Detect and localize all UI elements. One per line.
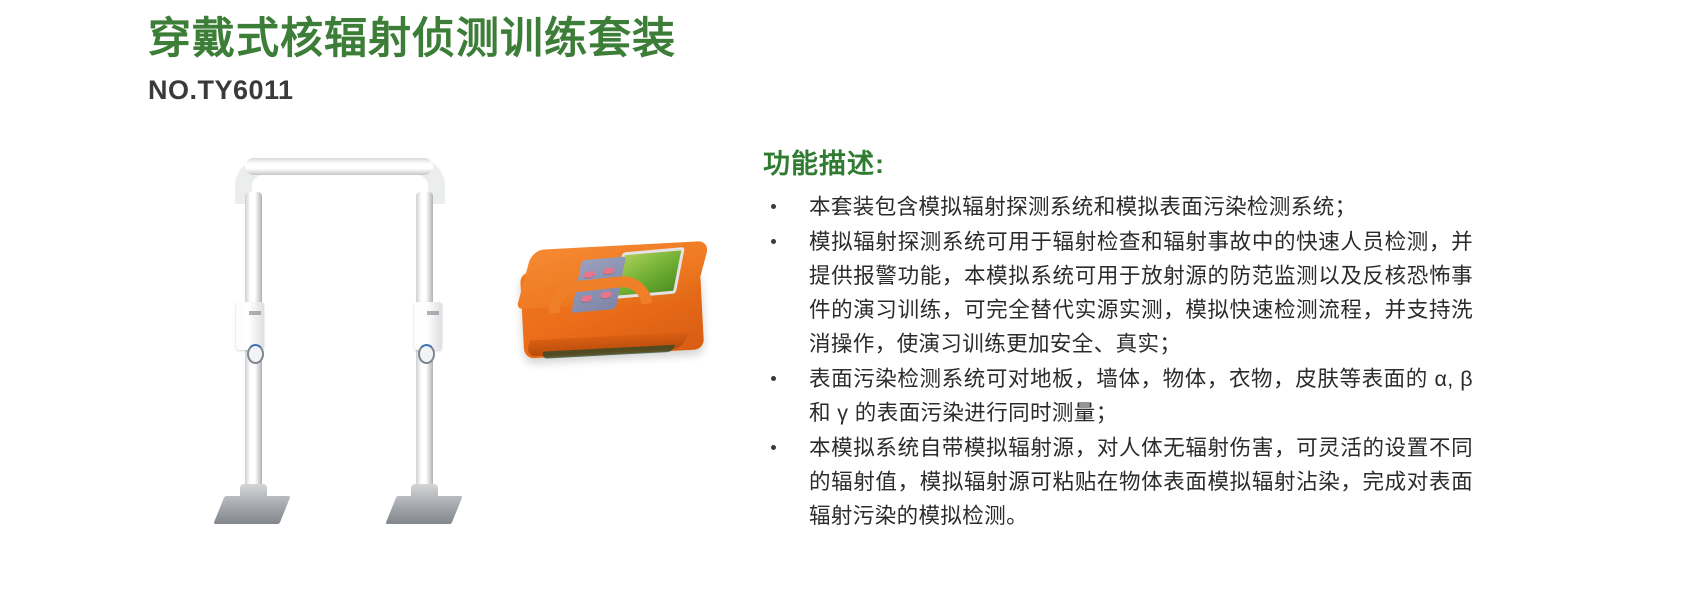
function-description-panel: 功能描述: 本套装包含模拟辐射探测系统和模拟表面污染检测系统； 模拟辐射探测系统… [763,142,1473,535]
feature-text: 模拟辐射探测系统可用于辐射检查和辐射事故中的快速人员检测，并提供报警功能，本模拟… [809,230,1473,356]
bullet-icon [771,239,776,244]
meter-key [583,271,595,278]
bullet-icon [771,376,776,381]
sensor-label-icon [249,311,261,315]
gate-base-plate-right [385,496,462,524]
sensor-label-icon [427,311,439,315]
list-item: 表面污染检测系统可对地板，墙体，物体，衣物，皮肤等表面的 α, β 和 γ 的表… [763,363,1473,431]
gate-base-plate-left [213,496,290,524]
features-list: 本套装包含模拟辐射探测系统和模拟表面污染检测系统； 模拟辐射探测系统可用于辐射检… [763,191,1473,534]
meter-key [603,267,615,274]
bullet-icon [771,445,776,450]
product-images-panel [140,130,740,570]
gate-sensor-box-left [236,302,264,350]
gate-clamp-right-icon [418,344,435,364]
bullet-icon [771,204,776,209]
product-header: 穿戴式核辐射侦测训练套装 NO.TY6011 [148,14,1148,106]
feature-text: 本模拟系统自带模拟辐射源，对人体无辐射伤害，可灵活的设置不同的辐射值，模拟辐射源… [809,436,1473,528]
list-item: 本套装包含模拟辐射探测系统和模拟表面污染检测系统； [763,191,1473,225]
page-title: 穿戴式核辐射侦测训练套装 [148,14,1148,65]
list-item: 模拟辐射探测系统可用于辐射检查和辐射事故中的快速人员检测，并提供报警功能，本模拟… [763,226,1473,362]
product-model-number: NO.TY6011 [148,75,1148,106]
gate-top-bar [245,158,433,175]
gate-sensor-box-right [414,302,442,350]
portal-gate-image [225,144,475,544]
handheld-meter-image [508,235,715,385]
list-item: 本模拟系统自带模拟辐射源，对人体无辐射伤害，可灵活的设置不同的辐射值，模拟辐射源… [763,432,1473,534]
features-heading: 功能描述: [763,142,1473,181]
feature-text: 表面污染检测系统可对地板，墙体，物体，衣物，皮肤等表面的 α, β 和 γ 的表… [809,367,1473,425]
gate-clamp-left-icon [247,344,264,364]
feature-text: 本套装包含模拟辐射探测系统和模拟表面污染检测系统； [809,195,1357,219]
